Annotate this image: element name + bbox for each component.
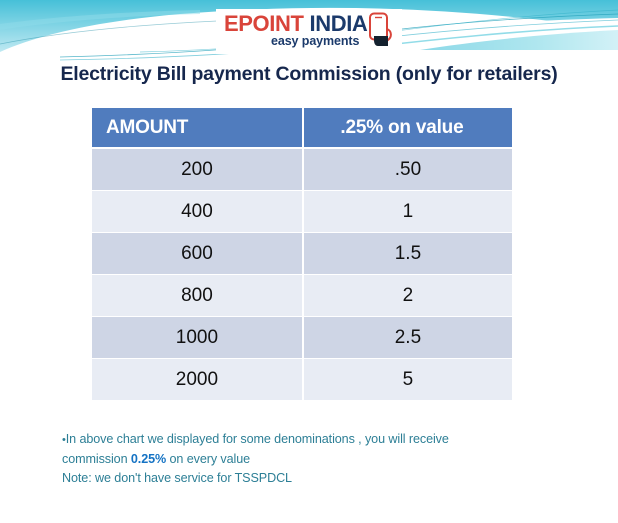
cell-commission: 5 <box>304 359 512 401</box>
note-line-2-prefix: commission <box>62 452 131 466</box>
cell-amount: 200 <box>92 147 304 191</box>
footer-notes: •In above chart we displayed for some de… <box>62 430 582 488</box>
cell-commission: 2 <box>304 275 512 317</box>
commission-rate-highlight: 0.25% <box>131 452 166 466</box>
note-line-1-text: In above chart we displayed for some den… <box>66 432 449 446</box>
cell-commission: 2.5 <box>304 317 512 359</box>
commission-table: AMOUNT .25% on value 200 .50 400 1 600 1… <box>92 108 512 401</box>
brand-logo: EPOINTINDIA easy payments <box>216 9 402 54</box>
table-header: AMOUNT .25% on value <box>92 108 512 147</box>
table-row: 800 2 <box>92 275 512 317</box>
table-row: 1000 2.5 <box>92 317 512 359</box>
cell-amount: 600 <box>92 233 304 275</box>
table-row: 600 1.5 <box>92 233 512 275</box>
cell-amount: 400 <box>92 191 304 233</box>
page-title: Electricity Bill payment Commission (onl… <box>0 63 618 86</box>
table-row: 2000 5 <box>92 359 512 401</box>
mobile-phone-icon <box>366 12 396 50</box>
column-header-commission: .25% on value <box>304 108 512 147</box>
note-line-2: commission 0.25% on every value <box>62 450 582 469</box>
note-line-2-suffix: on every value <box>166 452 250 466</box>
cell-commission: 1 <box>304 191 512 233</box>
cell-commission: 1.5 <box>304 233 512 275</box>
cell-amount: 1000 <box>92 317 304 359</box>
cell-commission: .50 <box>304 147 512 191</box>
brand-tagline: easy payments <box>271 34 359 48</box>
column-header-amount: AMOUNT <box>92 108 304 147</box>
brand-name-india: INDIA <box>310 11 368 36</box>
brand-name-epoint: EPOINT <box>224 11 304 36</box>
brand-name: EPOINTINDIA <box>224 12 367 36</box>
cell-amount: 800 <box>92 275 304 317</box>
slide-canvas: EPOINTINDIA easy payments Electricity Bi… <box>0 0 618 523</box>
table-row: 400 1 <box>92 191 512 233</box>
note-line-3: Note: we don't have service for TSSPDCL <box>62 469 582 488</box>
cell-amount: 2000 <box>92 359 304 401</box>
table-row: 200 .50 <box>92 147 512 191</box>
note-line-1: •In above chart we displayed for some de… <box>62 430 582 450</box>
table-header-row: AMOUNT .25% on value <box>92 108 512 147</box>
table-body: 200 .50 400 1 600 1.5 800 2 1000 2.5 200… <box>92 147 512 401</box>
